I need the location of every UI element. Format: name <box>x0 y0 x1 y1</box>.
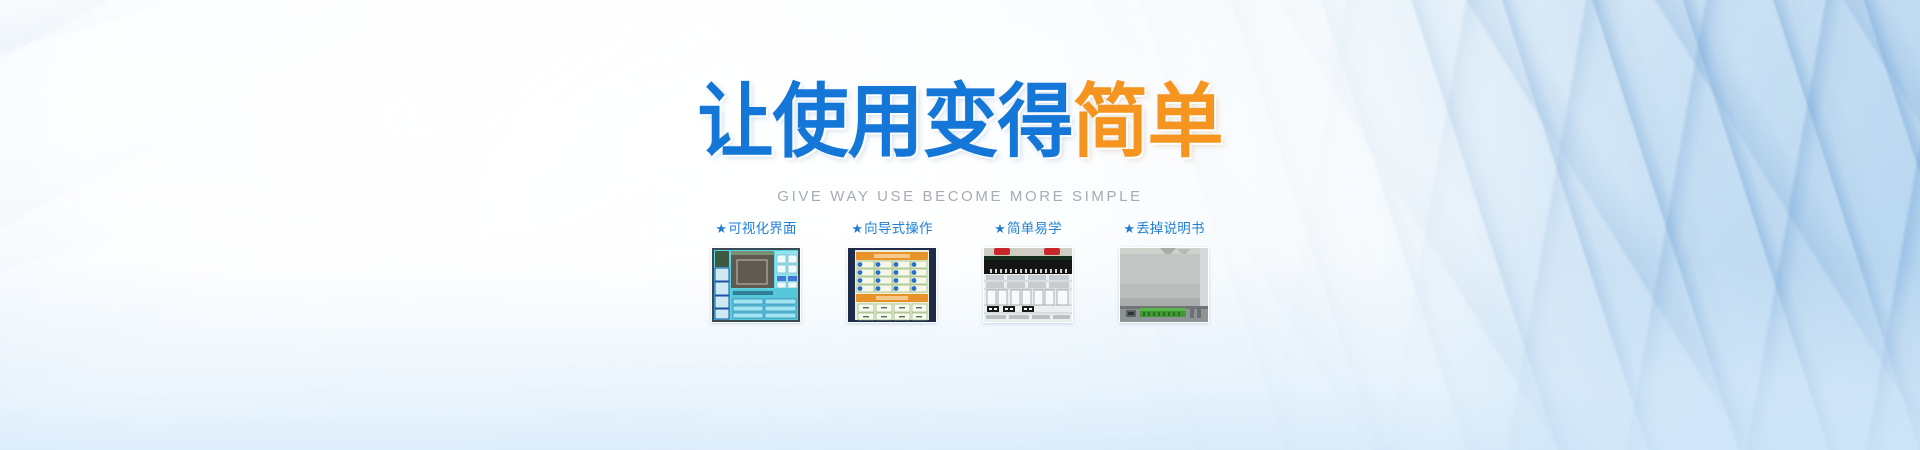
star-icon: ★ <box>851 221 863 236</box>
menu-grid-screen-photo[interactable] <box>847 247 937 323</box>
control-cabinet-photo[interactable] <box>983 247 1073 323</box>
promo-banner: 让使用变得简单 GIVE WAY USE BECOME MORE SIMPLE … <box>0 0 1920 450</box>
feature-list: ★可视化界面 <box>0 222 1920 323</box>
feature-label-text: 向导式操作 <box>864 221 933 236</box>
feature-item-wizard-operation[interactable]: ★向导式操作 <box>837 222 947 323</box>
star-icon: ★ <box>994 221 1006 236</box>
feature-label-visual-interface: ★可视化界面 <box>715 222 796 236</box>
feature-label-text: 简单易学 <box>1007 221 1062 236</box>
headline: 让使用变得简单 <box>0 82 1920 163</box>
star-icon: ★ <box>1123 221 1135 236</box>
feature-item-easy-to-learn[interactable]: ★简单易学 <box>973 222 1083 323</box>
feature-item-no-manual-needed[interactable]: ★丢掉说明书 <box>1109 222 1219 323</box>
hmi-touchscreen-photo[interactable] <box>711 247 801 323</box>
feature-label-text: 丢掉说明书 <box>1136 221 1205 236</box>
headline-blue-segment: 让使用变得 <box>698 74 1073 168</box>
feature-label-no-manual-needed: ★丢掉说明书 <box>1123 222 1204 236</box>
feature-label-easy-to-learn: ★简单易学 <box>994 222 1062 236</box>
controller-enclosure-photo[interactable] <box>1119 247 1209 323</box>
feature-label-text: 可视化界面 <box>728 221 797 236</box>
feature-label-wizard-operation: ★向导式操作 <box>851 222 932 236</box>
headline-orange-segment: 简单 <box>1073 74 1223 168</box>
star-icon: ★ <box>715 221 727 236</box>
banner-content: 让使用变得简单 GIVE WAY USE BECOME MORE SIMPLE … <box>0 0 1920 450</box>
feature-item-visual-interface[interactable]: ★可视化界面 <box>701 222 811 323</box>
headline-subtitle: GIVE WAY USE BECOME MORE SIMPLE <box>0 188 1920 205</box>
